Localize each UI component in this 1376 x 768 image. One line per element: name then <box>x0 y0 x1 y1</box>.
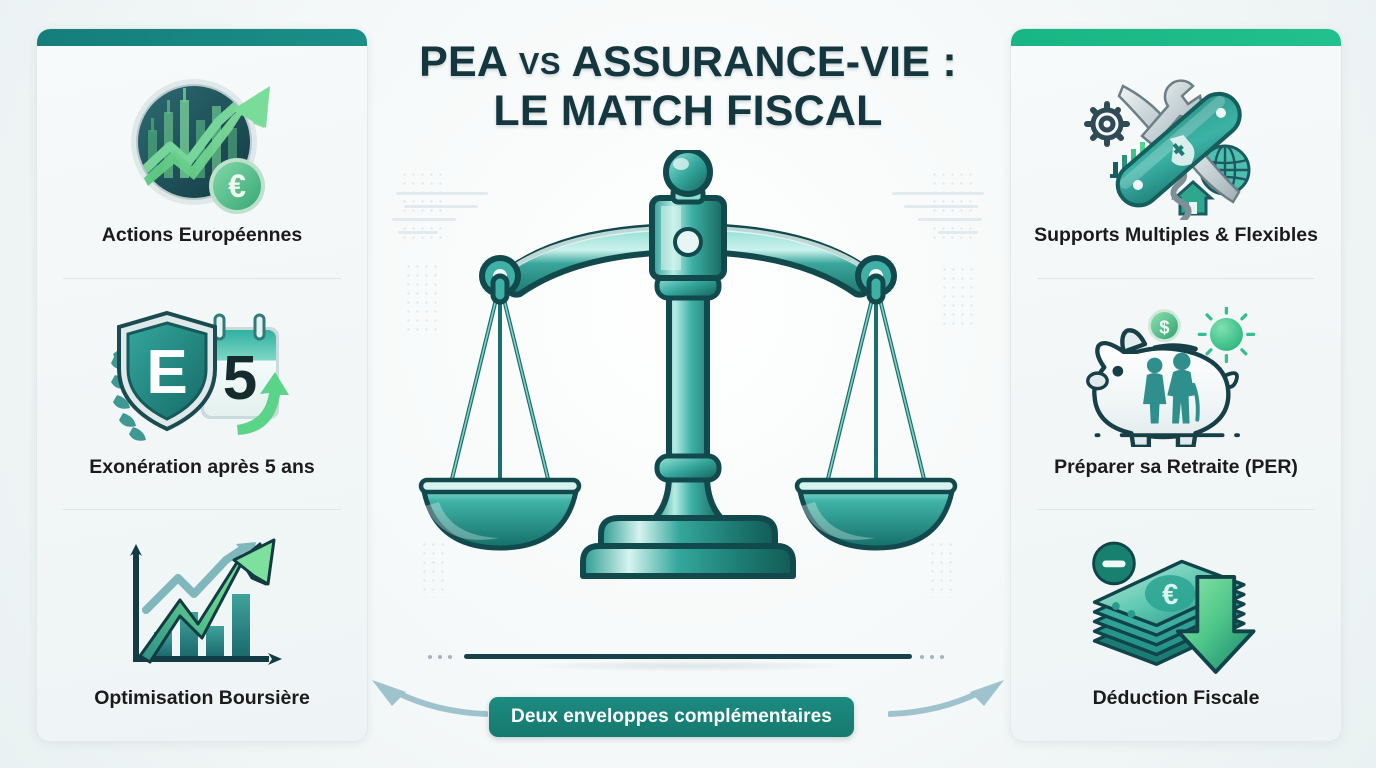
title-pea: PEA <box>419 38 506 86</box>
banknotes-minus-down-arrow-icon: € <box>1081 533 1271 683</box>
left-panel-items: € Actions Européennes <box>37 46 367 741</box>
list-item-label: Préparer sa Retraite (PER) <box>1054 456 1298 479</box>
balance-scales-icon <box>403 150 973 670</box>
shield-calendar-five-years-icon: 5 E <box>107 302 297 452</box>
left-panel-accent-bar <box>37 29 367 46</box>
list-item-label: Déduction Fiscale <box>1093 687 1260 710</box>
page-title: PEA VS ASSURANCE-VIE : LE MATCH FISCAL <box>374 38 1002 136</box>
list-item[interactable]: $ <box>1011 278 1341 510</box>
bottom-banner-text: Deux enveloppes complémentaires <box>511 706 832 728</box>
piggy-bank-retirement-icon: $ <box>1081 302 1271 452</box>
svg-text:E: E <box>146 338 187 407</box>
left-panel-pea: € Actions Européennes <box>36 28 368 742</box>
list-item-label: Exonération après 5 ans <box>89 456 314 479</box>
growth-bar-chart-arrow-icon <box>107 533 297 683</box>
title-vs: VS <box>519 46 561 81</box>
title-line-2: LE MATCH FISCAL <box>374 87 1002 136</box>
svg-text:€: € <box>1162 580 1178 612</box>
right-panel-items: Supports Multiples & Flexibles <box>1011 46 1341 741</box>
swiss-army-knife-icon <box>1081 70 1271 220</box>
list-item-label: Optimisation Boursière <box>94 687 310 710</box>
list-item[interactable]: 5 E Exonération après 5 ans <box>37 278 367 510</box>
right-panel-assurance-vie: Supports Multiples & Flexibles <box>1010 28 1342 742</box>
list-item[interactable]: € Actions Européennes <box>37 46 367 278</box>
stock-chart-euro-icon: € <box>107 70 297 220</box>
list-item-label: Actions Européennes <box>102 224 302 247</box>
list-item[interactable]: Supports Multiples & Flexibles <box>1011 46 1341 278</box>
svg-text:5: 5 <box>223 344 257 413</box>
title-assurance-vie: ASSURANCE-VIE : <box>572 38 957 86</box>
list-item-label: Supports Multiples & Flexibles <box>1034 224 1318 247</box>
title-line-1: PEA VS ASSURANCE-VIE : <box>374 38 1002 87</box>
svg-text:€: € <box>228 168 246 204</box>
ground-line <box>428 652 948 662</box>
bottom-banner[interactable]: Deux enveloppes complémentaires <box>489 697 854 737</box>
arrow-right-icon <box>888 672 1018 730</box>
svg-text:$: $ <box>1159 316 1169 337</box>
list-item[interactable]: Optimisation Boursière <box>37 509 367 741</box>
right-panel-accent-bar <box>1011 29 1341 46</box>
arrow-left-icon <box>358 672 488 730</box>
infographic-canvas: PEA VS ASSURANCE-VIE : LE MATCH FISCAL <box>0 0 1376 768</box>
list-item[interactable]: € Déduction Fiscale <box>1011 509 1341 741</box>
